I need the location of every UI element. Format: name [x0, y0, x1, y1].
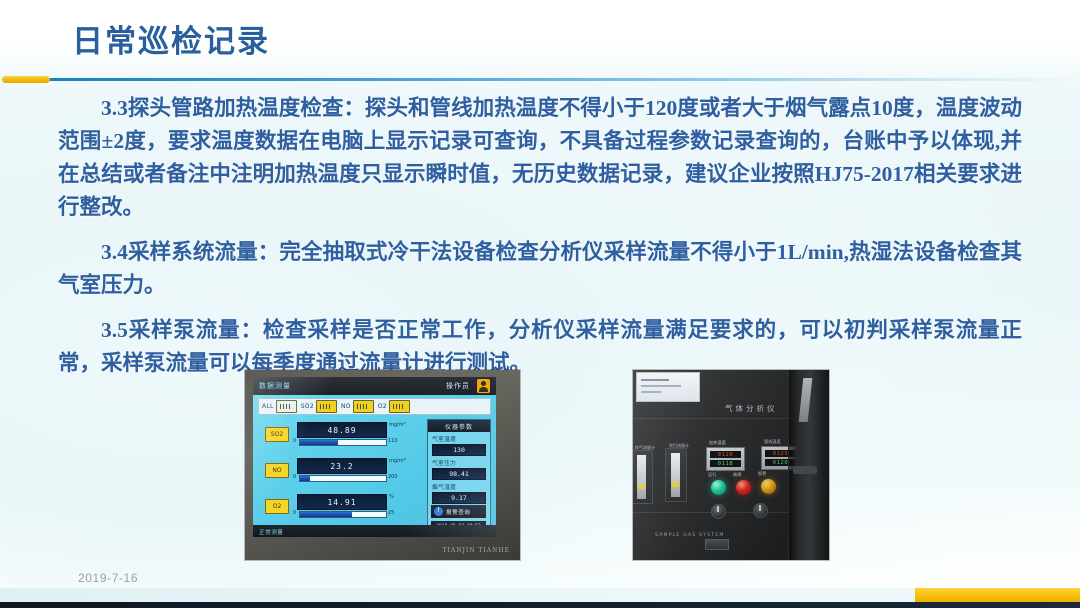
hmi-gas-tag-o2: O2 — [265, 499, 289, 514]
hmi-value-o2: 14.91 — [297, 494, 387, 510]
hmi-tab-all[interactable]: ALL — [262, 400, 297, 413]
indicator-lamp-run: 运行 — [711, 480, 726, 495]
rotameter-label: 样气流量计 — [635, 445, 655, 451]
footer-dark-strip — [0, 602, 1080, 608]
hmi-tab-o2[interactable]: O2 — [378, 400, 410, 413]
header-divider-gold — [2, 76, 50, 83]
rotameter-sample-gas: 样气流量计 — [633, 450, 653, 504]
hmi-tab-no[interactable]: NO — [341, 400, 374, 413]
hmi-topbar-title: 数据测量 — [259, 381, 291, 391]
meter-sv-value: 0120 — [773, 460, 789, 466]
hmi-range-max-so2: 110 — [388, 438, 398, 444]
header-divider — [0, 76, 1080, 82]
hmi-bar-so2 — [299, 439, 387, 446]
rotary-knob-power[interactable] — [711, 504, 726, 519]
rotameter-tube — [637, 455, 646, 499]
hmi-param-label: 烟气湿度 — [432, 483, 486, 491]
hmi-param-chamber-temp: 气室温度 130 — [432, 435, 486, 456]
rotameter-float — [638, 484, 645, 489]
lamp-label: 报警 — [758, 471, 766, 477]
hmi-bar-no — [299, 475, 387, 482]
meter-pv-value: 0120 — [718, 452, 734, 458]
cabinet-document-sheet — [636, 372, 700, 402]
meter-pv-value: 0125 — [773, 451, 789, 457]
hmi-tab-no-label: NO — [341, 403, 351, 410]
meter-sv-value: 0118 — [718, 461, 734, 467]
hmi-tab-all-label: ALL — [262, 403, 274, 410]
rotameter-tube — [671, 453, 680, 497]
hmi-range-min-o2: 0 — [293, 510, 296, 516]
paragraph-3-3: 3.3探头管路加热温度检查：探头和管线加热温度不得小于120度或者大于烟气露点1… — [58, 92, 1022, 224]
photo-analyzer-cabinet: 气体分析仪 样气流量计 吹扫流量计 加热温度 0120 0118 管线温度 01… — [633, 370, 829, 560]
hmi-param-flue-humidity: 烟气湿度 9.17 — [432, 483, 486, 504]
hmi-measurement-row: O2 14.91 % 0 25 — [259, 493, 421, 529]
hmi-tab-so2-chip-icon — [316, 400, 337, 413]
user-icon — [477, 379, 490, 393]
hmi-value-no: 23.2 — [297, 458, 387, 474]
text-line — [641, 379, 669, 381]
hmi-range-min-no: 0 — [293, 474, 296, 480]
lamp-label: 运行 — [708, 472, 716, 478]
hmi-tab-so2-label: SO2 — [301, 403, 314, 410]
hmi-topbar: 数据测量 操作员 — [253, 377, 496, 395]
meter-display-sv: 0118 — [710, 460, 741, 467]
hmi-param-chamber-pressure: 气室压力 98.41 — [432, 459, 486, 480]
digital-meter-heating-temp: 加热温度 0120 0118 — [706, 447, 745, 471]
hmi-measurement-row: NO 23.2 mg/m³ 0 200 — [259, 457, 421, 493]
hmi-measurement-list: SO2 48.89 mg/m³ 0 110 NO 23.2 mg/m³ 0 — [259, 421, 421, 529]
meter-label: 加热温度 — [709, 440, 726, 446]
rotameter-purge-gas: 吹扫流量计 — [665, 448, 687, 502]
meter-display-pv: 0120 — [710, 451, 741, 458]
door-handle[interactable] — [793, 466, 817, 474]
hmi-tab-bar[interactable]: ALL SO2 NO O2 — [258, 398, 491, 415]
hmi-screen: 数据测量 操作员 ALL SO2 NO — [253, 377, 496, 537]
hmi-unit-so2: mg/m³ — [389, 422, 406, 428]
hmi-tab-o2-label: O2 — [378, 403, 387, 410]
hmi-tab-so2[interactable]: SO2 — [301, 400, 337, 413]
hmi-unit-o2: % — [389, 494, 394, 500]
hmi-param-value: 98.41 — [432, 468, 486, 480]
hmi-brand-text: TIANJIN TIANHE — [443, 547, 510, 554]
hmi-alarm-query-button[interactable]: 报警查询 — [431, 505, 486, 518]
hmi-value-so2-text: 48.89 — [327, 426, 356, 435]
hmi-value-so2: 48.89 — [297, 422, 387, 438]
body-copy: 3.3探头管路加热温度检查：探头和管线加热温度不得小于120度或者大于烟气露点1… — [58, 92, 1022, 392]
rotameter-label: 吹扫流量计 — [669, 443, 689, 449]
hmi-value-o2-text: 14.91 — [327, 498, 356, 507]
hmi-bar-fill — [300, 512, 352, 517]
hmi-status-text: 正常测量 — [259, 528, 283, 536]
hmi-bar-fill — [300, 476, 310, 481]
footer-gold-accent — [915, 588, 1080, 602]
hmi-alarm-query-label: 报警查询 — [446, 508, 470, 516]
hmi-tab-o2-chip-icon — [389, 400, 410, 413]
slide-root: 日常巡检记录 3.3探头管路加热温度检查：探头和管线加热温度不得小于120度或者… — [0, 0, 1080, 608]
hmi-gas-tag-no: NO — [265, 463, 289, 478]
cabinet-door — [788, 370, 829, 560]
lamp-label: 故障 — [733, 472, 741, 478]
door-slot — [799, 378, 813, 422]
hmi-range-max-o2: 25 — [388, 510, 394, 516]
hmi-param-value: 130 — [432, 444, 486, 456]
text-line — [641, 385, 681, 387]
indicator-lamp-alarm: 报警 — [761, 479, 776, 494]
hmi-gas-tag-so2: SO2 — [265, 427, 289, 442]
hmi-value-no-text: 23.2 — [330, 462, 353, 471]
page-title: 日常巡检记录 — [72, 16, 270, 61]
hmi-tab-no-chip-icon — [353, 400, 374, 413]
rotameter-float — [672, 482, 679, 487]
hmi-params-panel: 仪器参数 气室温度 130 气室压力 98.41 烟气湿度 9.17 报警查询 — [427, 419, 491, 533]
hmi-status-bar: 正常测量 — [253, 525, 496, 537]
hmi-unit-no: mg/m³ — [389, 458, 406, 464]
alert-icon — [434, 507, 443, 516]
meter-label: 管线温度 — [764, 439, 781, 445]
text-line — [641, 391, 661, 393]
paragraph-3-4: 3.4采样系统流量：完全抽取式冷干法设备检查分析仪采样流量不得小于1L/min,… — [58, 236, 1022, 302]
photo-hmi-screen: 数据测量 操作员 ALL SO2 NO — [245, 370, 520, 560]
hmi-param-label: 气室温度 — [432, 435, 486, 443]
hmi-operator-label: 操作员 — [446, 381, 470, 391]
cabinet-bottom-text: SAMPLE GAS SYSTEM — [655, 533, 725, 538]
hmi-param-label: 气室压力 — [432, 459, 486, 467]
hmi-tab-all-chip-icon — [276, 400, 297, 413]
indicator-lamp-fault: 故障 — [736, 480, 751, 495]
footer-date: 2019-7-16 — [78, 571, 138, 585]
paragraph-3-5: 3.5采样泵流量：检查采样是否正常工作，分析仪采样流量满足要求的，可以初判采样泵… — [58, 314, 1022, 380]
hmi-param-value: 9.17 — [432, 492, 486, 504]
hmi-params-header: 仪器参数 — [428, 420, 490, 432]
cabinet-vent — [705, 539, 729, 550]
rotary-knob-calibration[interactable] — [753, 503, 768, 518]
hmi-range-max-no: 200 — [388, 474, 398, 480]
hmi-bar-fill — [300, 440, 338, 445]
cabinet-label: 气体分析仪 — [725, 403, 778, 414]
hmi-range-min-so2: 0 — [293, 438, 296, 444]
header-divider-blue — [44, 78, 1080, 81]
hmi-measurement-row: SO2 48.89 mg/m³ 0 110 — [259, 421, 421, 457]
hmi-bar-o2 — [299, 511, 387, 518]
